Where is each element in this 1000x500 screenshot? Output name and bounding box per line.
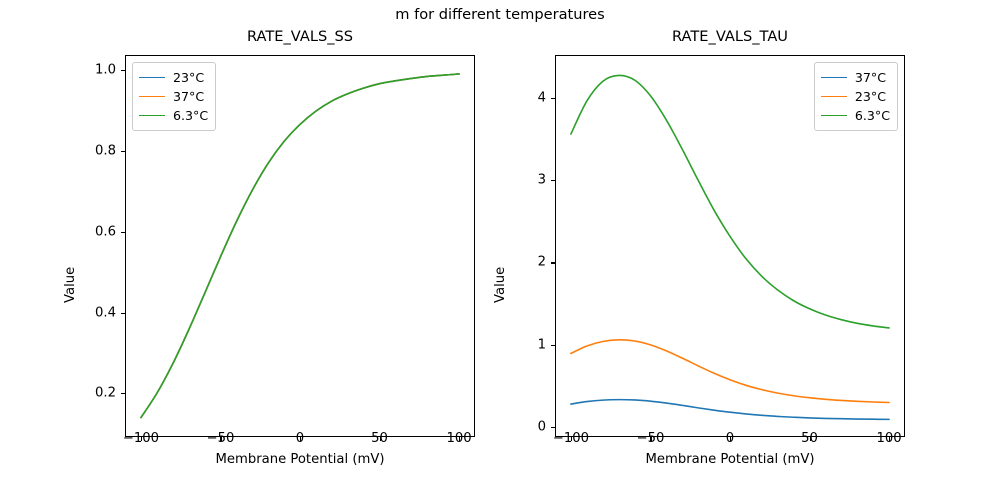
axes-rate-vals-tau: RATE_VALS_TAU −100−50050100 01234 Membra… (555, 55, 905, 437)
legend-label: 23°C (173, 70, 204, 85)
legend-color-swatch (821, 115, 847, 116)
x-axis-label-right: Membrane Potential (mV) (555, 452, 905, 467)
y-tick-label: 4 (538, 90, 546, 105)
y-tick-mark (121, 393, 125, 394)
legend-entry[interactable]: 37°C (139, 87, 208, 106)
x-tick-label: −50 (637, 431, 665, 446)
matplotlib-figure: m for different temperatures RATE_VALS_S… (0, 0, 1000, 500)
legend-left[interactable]: 23°C37°C6.3°C (132, 62, 216, 131)
y-tick-label: 0.4 (95, 305, 116, 320)
x-tick-label: −100 (123, 431, 159, 446)
axes-rate-vals-ss: RATE_VALS_SS −100−50050100 0.20.40.60.81… (125, 55, 475, 437)
y-tick-mark (121, 313, 125, 314)
y-tick-mark (551, 427, 555, 428)
legend-label: 6.3°C (173, 108, 208, 123)
y-axis-label-left: Value (63, 267, 78, 303)
x-tick-label: 100 (876, 431, 901, 446)
y-tick-mark (121, 232, 125, 233)
legend-label: 6.3°C (855, 108, 890, 123)
axes-right-title: RATE_VALS_TAU (555, 28, 905, 45)
x-axis-label-left: Membrane Potential (mV) (125, 452, 475, 467)
legend-entry[interactable]: 6.3°C (139, 106, 208, 125)
x-tick-label: 50 (371, 431, 388, 446)
y-tick-label: 1 (538, 337, 546, 352)
y-tick-mark (551, 180, 555, 181)
y-tick-label: 0 (538, 420, 546, 435)
figure-suptitle: m for different temperatures (0, 6, 1000, 23)
x-tick-label: 100 (446, 431, 471, 446)
legend-label: 37°C (173, 89, 204, 104)
y-tick-mark (551, 345, 555, 346)
legend-color-swatch (139, 115, 165, 116)
axes-left-title: RATE_VALS_SS (125, 28, 475, 45)
series-line (571, 400, 889, 420)
y-tick-mark (551, 262, 555, 263)
legend-entry[interactable]: 23°C (821, 87, 890, 106)
y-tick-label: 0.2 (95, 386, 116, 401)
legend-entry[interactable]: 37°C (821, 68, 890, 87)
legend-color-swatch (139, 77, 165, 78)
x-tick-label: −100 (553, 431, 589, 446)
series-line (571, 340, 889, 403)
x-tick-label: 0 (296, 431, 304, 446)
y-tick-label: 2 (538, 255, 546, 270)
legend-entry[interactable]: 23°C (139, 68, 208, 87)
y-tick-label: 0.6 (95, 224, 116, 239)
y-tick-mark (121, 70, 125, 71)
y-axis-label-right: Value (493, 267, 508, 303)
legend-label: 37°C (855, 70, 886, 85)
legend-color-swatch (821, 96, 847, 97)
x-tick-label: 50 (801, 431, 818, 446)
y-tick-label: 1.0 (95, 63, 116, 78)
y-tick-label: 3 (538, 173, 546, 188)
y-tick-mark (551, 98, 555, 99)
y-tick-label: 0.8 (95, 144, 116, 159)
x-tick-label: 0 (726, 431, 734, 446)
legend-label: 23°C (855, 89, 886, 104)
y-tick-mark (121, 151, 125, 152)
legend-color-swatch (139, 96, 165, 97)
legend-right[interactable]: 37°C23°C6.3°C (814, 62, 898, 131)
legend-entry[interactable]: 6.3°C (821, 106, 890, 125)
legend-color-swatch (821, 77, 847, 78)
x-tick-label: −50 (207, 431, 235, 446)
